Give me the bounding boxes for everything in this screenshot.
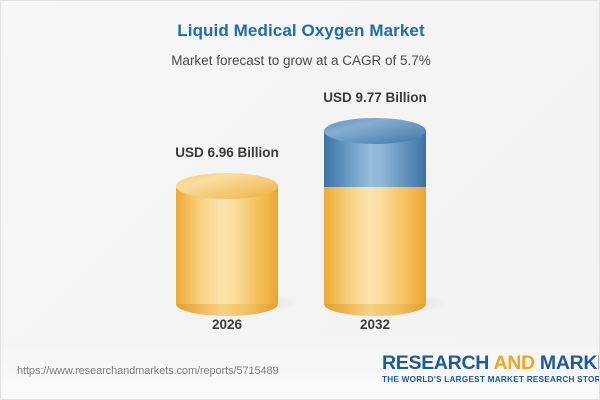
brand-name-part1: RESEARCH — [382, 352, 493, 374]
brand-name-part2: MARKETS — [535, 352, 600, 374]
source-url[interactable]: https://www.researchandmarkets.com/repor… — [17, 365, 279, 377]
bar-value-label-2032: USD 9.77 Billion — [295, 90, 455, 105]
chart-plot-area: USD 6.96 Billion 2026 USD 9.77 Billion 2… — [1, 81, 600, 343]
bar-segment-base-2026 — [176, 186, 278, 304]
bar-value-label-2026: USD 6.96 Billion — [147, 145, 307, 160]
bar-cylinder-2026[interactable] — [176, 173, 278, 304]
brand-name-and: AND — [493, 352, 534, 374]
brand-name: RESEARCH AND MARKETS — [382, 353, 584, 373]
axis-label-2032: 2032 — [295, 317, 455, 332]
brand-logo[interactable]: RESEARCH AND MARKETS THE WORLD'S LARGEST… — [382, 353, 584, 384]
bar-segment-base-2032 — [324, 186, 426, 304]
bar-top-cap-2032 — [324, 118, 426, 144]
axis-label-2026: 2026 — [147, 317, 307, 332]
chart-subtitle: Market forecast to grow at a CAGR of 5.7… — [1, 53, 600, 68]
footer: https://www.researchandmarkets.com/repor… — [1, 343, 600, 399]
bar-top-cap-2026 — [176, 173, 278, 199]
infographic-card: Liquid Medical Oxygen Market Market fore… — [0, 0, 600, 400]
brand-tagline: THE WORLD'S LARGEST MARKET RESEARCH STOR… — [382, 375, 584, 384]
page-title: Liquid Medical Oxygen Market — [1, 21, 600, 41]
bar-cylinder-2032[interactable] — [324, 118, 426, 304]
